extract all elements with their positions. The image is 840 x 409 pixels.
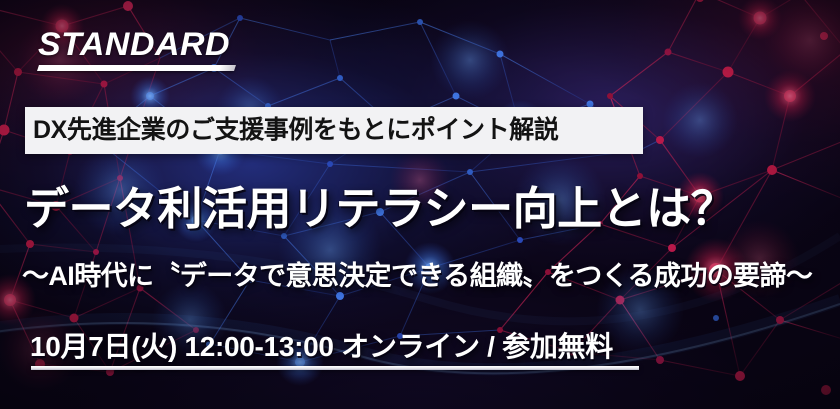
banner-content: STANDARD DX先進企業のご支援事例をもとにポイント解説 データ利活用リテ…: [0, 0, 840, 409]
logo-wordmark: STANDARD: [38, 28, 250, 60]
page-title: データ利活用リテラシー向上とは？: [24, 184, 824, 234]
headline-band-text: DX先進企業のご支援事例をもとにポイント解説: [33, 118, 558, 143]
webinar-banner: STANDARD DX先進企業のご支援事例をもとにポイント解説 データ利活用リテ…: [0, 0, 840, 409]
standard-logo: STANDARD: [38, 28, 238, 71]
event-datetime-text: 10月7日(火) 12:00-13:00 オンライン / 参加無料: [30, 332, 613, 363]
page-subtitle: 〜AI時代に〝データで意思決定できる組織〟をつくる成功の要諦〜: [22, 262, 832, 292]
headline-band: DX先進企業のご支援事例をもとにポイント解説: [25, 107, 643, 154]
logo-underline-bar: [37, 65, 236, 71]
datetime-underline-rule: [31, 366, 639, 370]
